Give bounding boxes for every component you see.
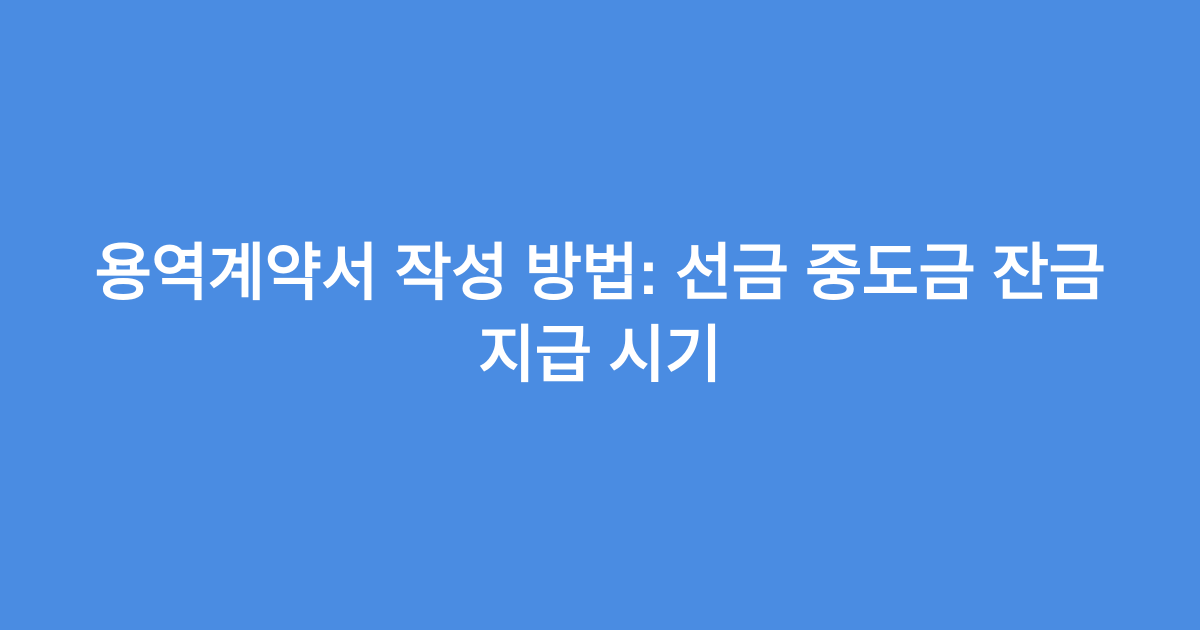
share-card: 용역계약서 작성 방법: 선금 중도금 잔금 지급 시기 — [0, 0, 1200, 630]
page-title: 용역계약서 작성 방법: 선금 중도금 잔금 지급 시기 — [70, 233, 1130, 397]
title-block: 용역계약서 작성 방법: 선금 중도금 잔금 지급 시기 — [70, 233, 1130, 397]
